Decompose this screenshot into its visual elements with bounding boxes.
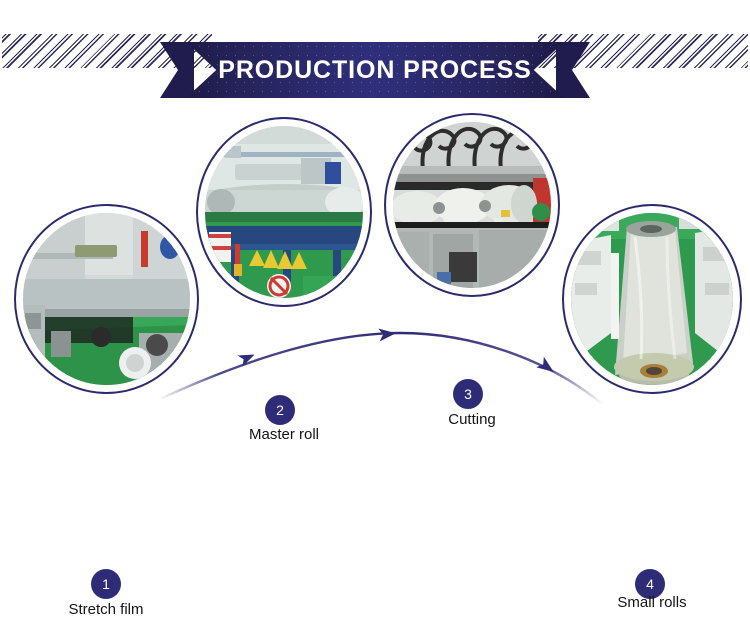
photo-cutting bbox=[393, 122, 551, 288]
photo-small-rolls bbox=[571, 213, 733, 385]
step-1-label: Stretch film bbox=[0, 601, 216, 618]
process-step-1[interactable]: 1 Stretch film bbox=[14, 204, 199, 394]
photo-stretch-film bbox=[23, 213, 190, 385]
arrowhead-icon-3 bbox=[536, 357, 557, 378]
step-2-label: Master roll bbox=[170, 426, 398, 443]
page-title: PRODUCTION PROCESS bbox=[218, 56, 531, 85]
flow-arrow-path bbox=[162, 333, 600, 402]
banner: PRODUCTION PROCESS bbox=[0, 20, 750, 80]
photo-master-roll bbox=[205, 126, 363, 298]
step-3-label: Cutting bbox=[358, 411, 586, 428]
step-1-badge: 1 bbox=[91, 569, 121, 599]
step-4-number: 4 bbox=[646, 577, 654, 591]
step-3-badge: 3 bbox=[453, 379, 483, 409]
process-step-3[interactable]: 3 Cutting bbox=[384, 113, 560, 297]
production-process-infographic: PRODUCTION PROCESS bbox=[0, 0, 750, 451]
step-3-number: 3 bbox=[464, 387, 472, 401]
step-1-number: 1 bbox=[102, 577, 110, 591]
step-4-label: Small rolls bbox=[538, 594, 750, 611]
step-2-badge: 2 bbox=[265, 395, 295, 425]
process-step-2[interactable]: 2 Master roll bbox=[196, 117, 372, 307]
step-2-number: 2 bbox=[276, 403, 284, 417]
process-step-4[interactable]: 4 Small rolls bbox=[562, 204, 742, 394]
